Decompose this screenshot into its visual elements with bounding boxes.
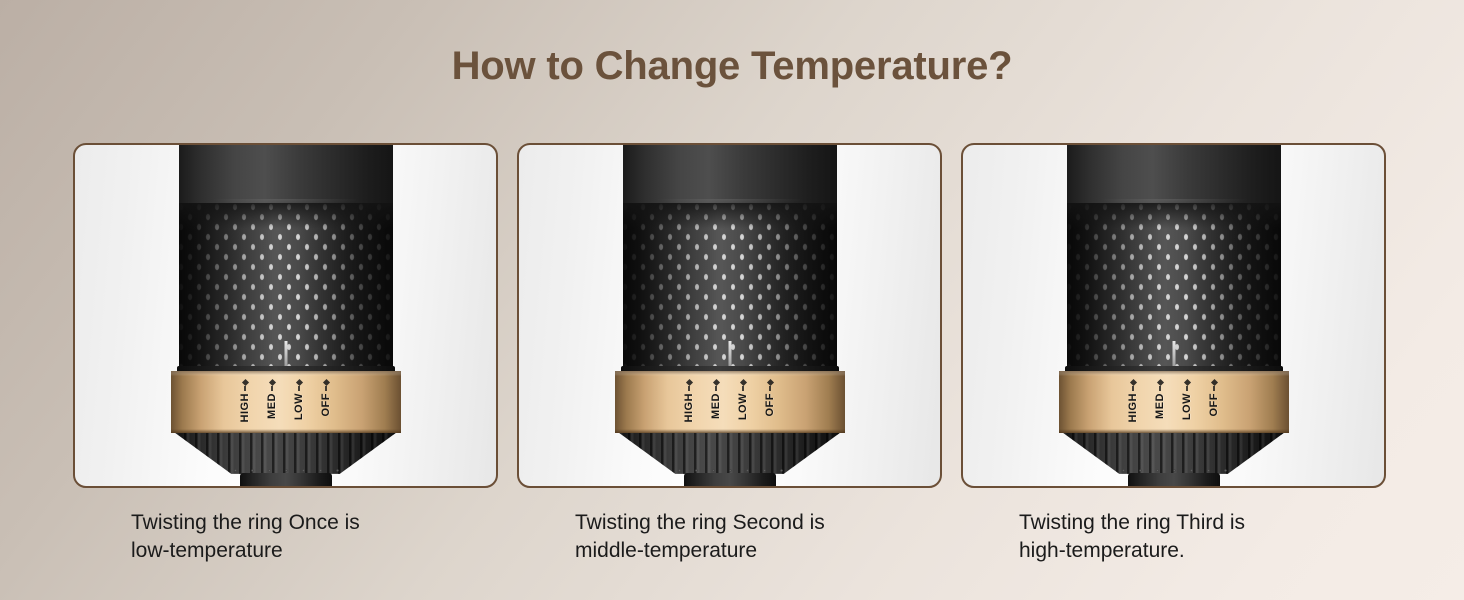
ring-mode-high[interactable]: HIGH bbox=[682, 380, 697, 423]
device-neck bbox=[1128, 473, 1220, 488]
ring-mode-low[interactable]: LOW bbox=[736, 380, 751, 420]
step-caption-2: Twisting the ring Second is middle-tempe… bbox=[517, 509, 942, 564]
step-caption-3: Twisting the ring Third is high-temperat… bbox=[961, 509, 1386, 564]
mode-marker-stem bbox=[1132, 386, 1134, 391]
device-neck bbox=[684, 473, 776, 488]
mesh-top-shadow bbox=[623, 203, 837, 229]
mode-marker-icon bbox=[1129, 379, 1136, 386]
mode-marker-icon bbox=[241, 379, 248, 386]
product-image-card-2: OFF LOW MED bbox=[517, 143, 942, 488]
mode-label-med: MED bbox=[266, 393, 278, 419]
mode-label-low: LOW bbox=[737, 393, 749, 420]
mesh-top-shadow bbox=[179, 203, 393, 229]
device-barrel-top bbox=[623, 145, 837, 207]
mode-marker-icon bbox=[295, 379, 302, 386]
mode-marker-stem bbox=[271, 386, 273, 391]
hair-dryer-device-2: OFF LOW MED bbox=[615, 145, 845, 488]
instruction-step-1: OFF LOW MED bbox=[73, 143, 498, 488]
mode-marker-icon bbox=[766, 379, 773, 386]
device-barrel-top bbox=[1067, 145, 1281, 207]
mode-marker-stem bbox=[769, 386, 771, 391]
ring-mode-high[interactable]: HIGH bbox=[1126, 380, 1141, 423]
mode-marker-icon bbox=[739, 379, 746, 386]
mode-label-off: OFF bbox=[320, 393, 332, 417]
device-neck bbox=[240, 473, 332, 488]
mode-label-low: LOW bbox=[293, 393, 305, 420]
instruction-card-row: OFF LOW MED bbox=[73, 143, 1386, 488]
ring-position-indicator-icon bbox=[284, 341, 287, 367]
ring-mode-med[interactable]: MED bbox=[1153, 380, 1168, 419]
ring-mode-labels: OFF LOW MED bbox=[171, 371, 401, 433]
mode-label-med: MED bbox=[710, 393, 722, 419]
mode-marker-icon bbox=[712, 379, 719, 386]
mode-marker-stem bbox=[325, 386, 327, 391]
ring-mode-med[interactable]: MED bbox=[709, 380, 724, 419]
mode-marker-icon bbox=[268, 379, 275, 386]
instruction-step-3: OFF LOW MED bbox=[961, 143, 1386, 488]
hair-dryer-device-3: OFF LOW MED bbox=[1059, 145, 1289, 488]
mode-marker-icon bbox=[1183, 379, 1190, 386]
step-caption-1: Twisting the ring Once is low-temperatur… bbox=[73, 509, 498, 564]
mode-marker-icon bbox=[685, 379, 692, 386]
instruction-step-2: OFF LOW MED bbox=[517, 143, 942, 488]
mode-marker-stem bbox=[742, 386, 744, 391]
ring-position-indicator-icon bbox=[1172, 341, 1175, 367]
mesh-top-shadow bbox=[1067, 203, 1281, 229]
mode-marker-stem bbox=[244, 386, 246, 391]
ring-position-indicator-icon bbox=[728, 341, 731, 367]
mode-marker-stem bbox=[1186, 386, 1188, 391]
mode-marker-stem bbox=[1159, 386, 1161, 391]
ring-mode-low[interactable]: LOW bbox=[1180, 380, 1195, 420]
device-barrel-top bbox=[179, 145, 393, 207]
mode-marker-icon bbox=[1156, 379, 1163, 386]
temperature-control-ring[interactable]: OFF LOW MED bbox=[1059, 371, 1289, 433]
ring-mode-off[interactable]: OFF bbox=[319, 380, 334, 417]
mode-label-high: HIGH bbox=[239, 393, 251, 423]
ring-mode-labels: OFF LOW MED bbox=[615, 371, 845, 433]
mode-label-off: OFF bbox=[1208, 393, 1220, 417]
temperature-control-ring[interactable]: OFF LOW MED bbox=[171, 371, 401, 433]
mode-marker-icon bbox=[1210, 379, 1217, 386]
mode-marker-stem bbox=[1213, 386, 1215, 391]
ring-mode-high[interactable]: HIGH bbox=[238, 380, 253, 423]
mode-label-med: MED bbox=[1154, 393, 1166, 419]
hair-dryer-device-1: OFF LOW MED bbox=[171, 145, 401, 488]
mode-label-high: HIGH bbox=[683, 393, 695, 423]
mode-marker-stem bbox=[688, 386, 690, 391]
product-image-card-1: OFF LOW MED bbox=[73, 143, 498, 488]
mode-marker-icon bbox=[322, 379, 329, 386]
mode-label-low: LOW bbox=[1181, 393, 1193, 420]
ring-mode-off[interactable]: OFF bbox=[763, 380, 778, 417]
mode-marker-stem bbox=[715, 386, 717, 391]
product-image-card-3: OFF LOW MED bbox=[961, 143, 1386, 488]
ring-mode-low[interactable]: LOW bbox=[292, 380, 307, 420]
ring-mode-off[interactable]: OFF bbox=[1207, 380, 1222, 417]
mode-label-high: HIGH bbox=[1127, 393, 1139, 423]
mode-label-off: OFF bbox=[764, 393, 776, 417]
page-title: How to Change Temperature? bbox=[0, 44, 1464, 89]
mode-marker-stem bbox=[298, 386, 300, 391]
ring-mode-med[interactable]: MED bbox=[265, 380, 280, 419]
ring-mode-labels: OFF LOW MED bbox=[1059, 371, 1289, 433]
temperature-control-ring[interactable]: OFF LOW MED bbox=[615, 371, 845, 433]
